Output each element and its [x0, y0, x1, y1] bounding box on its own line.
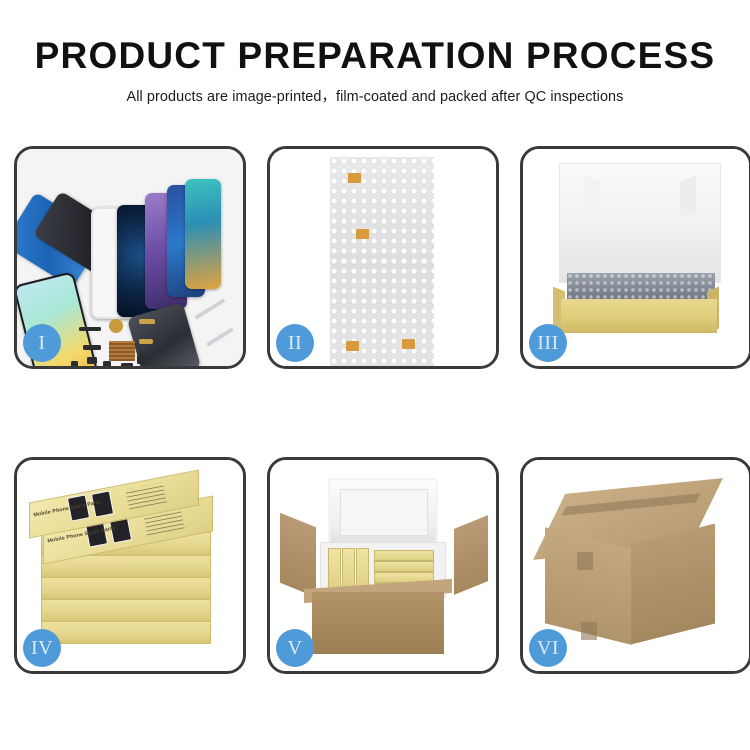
step-card-5: V [267, 457, 499, 674]
steps-grid: I II [14, 146, 736, 674]
step-badge-6: VI [529, 629, 567, 667]
screwdriver-graphic [206, 327, 234, 346]
part-flex-cable-2 [139, 339, 153, 344]
tweezers-graphic [195, 298, 226, 319]
step-card-2: II [267, 146, 499, 369]
step-badge-5: V [276, 629, 314, 667]
step-card-3: III [520, 146, 750, 369]
box-front-panel [561, 299, 717, 333]
carton-flap-right [454, 515, 488, 595]
foam-lid-graphic [328, 478, 438, 546]
tape-tab-mid [356, 229, 369, 239]
step-badge-2: II [276, 324, 314, 362]
packed-box-4 [374, 550, 434, 561]
part-chip [79, 327, 101, 331]
tape-tab-bottom-right [402, 339, 415, 349]
step-badge-3: III [529, 324, 567, 362]
stacked-box-3 [41, 576, 211, 600]
part-bracket-b [87, 357, 97, 364]
carton-right-face [631, 524, 715, 645]
header: PRODUCT PREPARATION PROCESS All products… [0, 36, 750, 106]
tape-tab-top [348, 173, 361, 183]
part-bracket-a [83, 345, 101, 350]
part-sim-tray [71, 361, 78, 366]
foam-lid-inner [340, 489, 428, 536]
lid-flap-right [680, 175, 696, 217]
bubble-wrap-graphic [330, 157, 434, 366]
carton-tab-lower [581, 622, 597, 640]
box-bubble-contents [567, 273, 715, 301]
step-card-1: I [14, 146, 246, 369]
stacked-box-5 [41, 620, 211, 644]
tape-tab-bottom-left [346, 341, 359, 351]
step-card-6: VI [520, 457, 750, 674]
packed-box-1 [328, 548, 341, 592]
part-camera [137, 355, 146, 364]
step-badge-1: I [23, 324, 61, 362]
part-speaker [121, 363, 133, 366]
stacked-box-4 [41, 598, 211, 622]
carton-tab-upper [577, 552, 593, 570]
teal-phone-graphic [185, 179, 221, 289]
page-subtitle: All products are image-printed，film-coat… [0, 85, 750, 106]
part-board [109, 341, 135, 361]
part-bracket-c [103, 361, 111, 366]
carton-flap-left [280, 513, 316, 598]
lid-flap-left [584, 175, 600, 217]
part-coil [109, 319, 123, 333]
step-badge-4: IV [23, 629, 61, 667]
packed-box-5 [374, 561, 434, 572]
page-title: PRODUCT PREPARATION PROCESS [0, 36, 750, 76]
step-card-4: Mobile Phone Spare Parts Mobile Phone Sp… [14, 457, 246, 674]
product-preparation-infographic: PRODUCT PREPARATION PROCESS All products… [0, 0, 750, 750]
carton-front-panel [312, 592, 444, 654]
box-lid-graphic [559, 163, 721, 283]
part-flex-cable [139, 319, 155, 324]
